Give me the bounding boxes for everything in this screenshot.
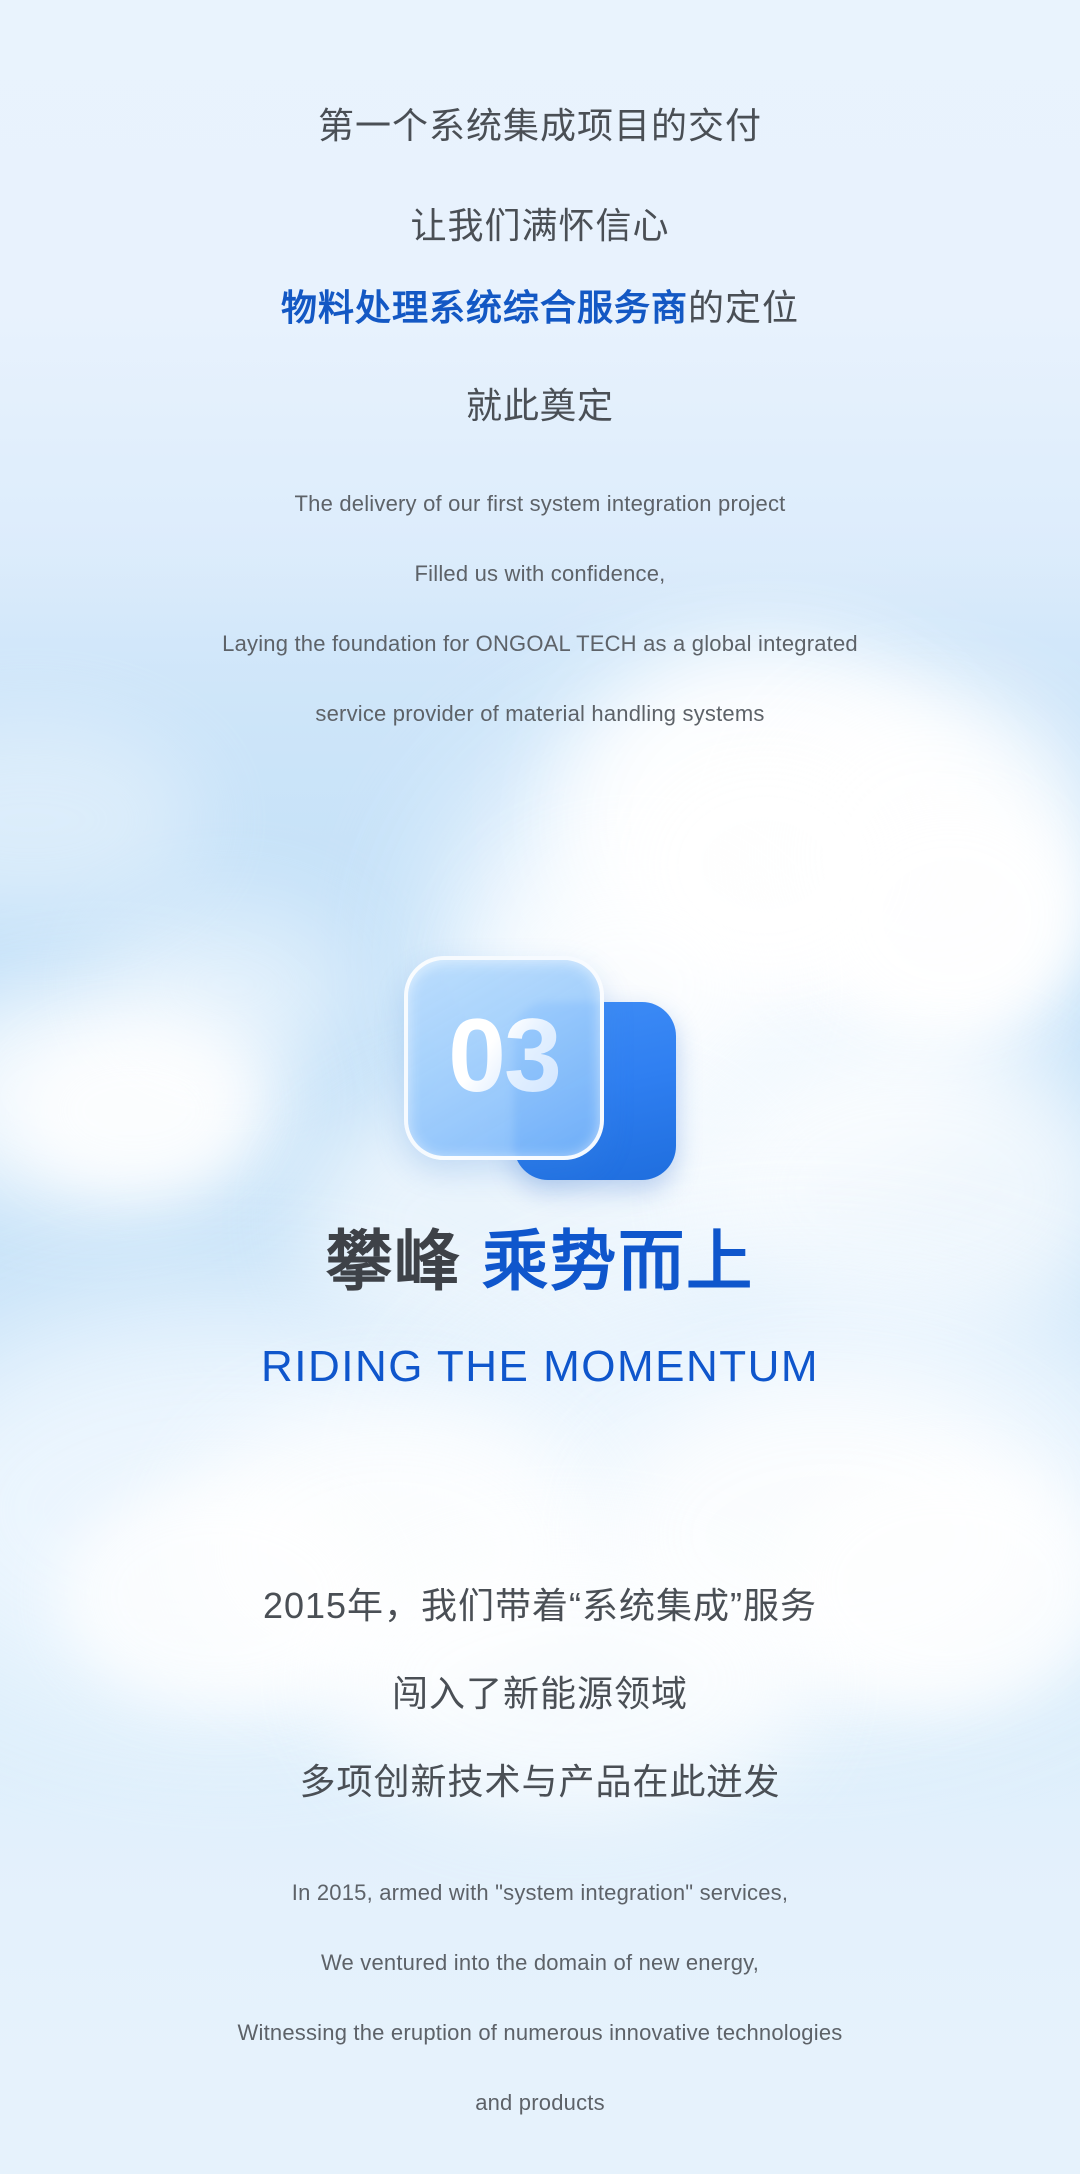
cn-headline-3-rest: 的定位 (688, 287, 799, 328)
cn-headline-2: 让我们满怀信心 (0, 208, 1080, 244)
section-number-badge: 03 (404, 956, 676, 1180)
section-one-en-line-2: Filled us with confidence, (0, 563, 1080, 585)
section-one-cn-line-1: 第一个系统集成项目的交付 (0, 108, 1080, 144)
section-two-cn-line-3: 多项创新技术与产品在此迸发 (0, 1764, 1080, 1800)
badge-front-card: 03 (404, 956, 604, 1160)
cn-headline-4: 就此奠定 (0, 388, 1080, 424)
cn-body-1: 2015年，我们带着“系统集成”服务 (0, 1588, 1080, 1624)
section-one-en-line-1: The delivery of our first system integra… (0, 493, 1080, 515)
section-two-en-line-4: and products (0, 2092, 1080, 2114)
section-one-en-line-4: service provider of material handling sy… (0, 703, 1080, 725)
section-two-cn-line-2: 闯入了新能源领域 (0, 1676, 1080, 1712)
en-paragraph-1-line-2: Filled us with confidence, (0, 563, 1080, 585)
section-two-en-line-1: In 2015, armed with "system integration"… (0, 1882, 1080, 1904)
section-one-cn-line-2: 让我们满怀信心 (0, 208, 1080, 244)
en-paragraph-1-line-4: service provider of material handling sy… (0, 703, 1080, 725)
section-two-en-line-3: Witnessing the eruption of numerous inno… (0, 2022, 1080, 2044)
en-paragraph-2-line-1: In 2015, armed with "system integration"… (0, 1882, 1080, 1904)
section-one-cn-line-4: 就此奠定 (0, 388, 1080, 424)
section-two-title: 攀峰 乘势而上 (0, 1228, 1080, 1294)
cn-body-3: 多项创新技术与产品在此迸发 (0, 1764, 1080, 1800)
section-two-title-blue: 乘势而上 (482, 1224, 754, 1298)
cn-body-2: 闯入了新能源领域 (0, 1676, 1080, 1712)
en-paragraph-2-line-2: We ventured into the domain of new energ… (0, 1952, 1080, 1974)
section-two-subtitle: RIDING THE MOMENTUM (0, 1345, 1080, 1389)
en-paragraph-1-line-3: Laying the foundation for ONGOAL TECH as… (0, 633, 1080, 655)
section-two-title-dark: 攀峰 (326, 1224, 462, 1298)
en-paragraph-2-line-4: and products (0, 2092, 1080, 2114)
en-paragraph-2-line-3: Witnessing the eruption of numerous inno… (0, 2022, 1080, 2044)
section-one-en-line-3: Laying the foundation for ONGOAL TECH as… (0, 633, 1080, 655)
badge-number-label: 03 (448, 1004, 560, 1108)
page-canvas: 第一个系统集成项目的交付 让我们满怀信心 物料处理系统综合服务商的定位 就此奠定… (0, 0, 1080, 2174)
cn-headline-3: 物料处理系统综合服务商的定位 (0, 290, 1080, 326)
section-one-cn-line-3: 物料处理系统综合服务商的定位 (0, 290, 1080, 326)
section-two-cn-line-1: 2015年，我们带着“系统集成”服务 (0, 1588, 1080, 1624)
en-paragraph-1-line-1: The delivery of our first system integra… (0, 493, 1080, 515)
cn-headline-1: 第一个系统集成项目的交付 (0, 108, 1080, 144)
section-two-en-line-2: We ventured into the domain of new energ… (0, 1952, 1080, 1974)
cn-headline-3-highlight: 物料处理系统综合服务商 (281, 287, 688, 328)
content-layer: 第一个系统集成项目的交付 让我们满怀信心 物料处理系统综合服务商的定位 就此奠定… (0, 0, 1080, 2174)
